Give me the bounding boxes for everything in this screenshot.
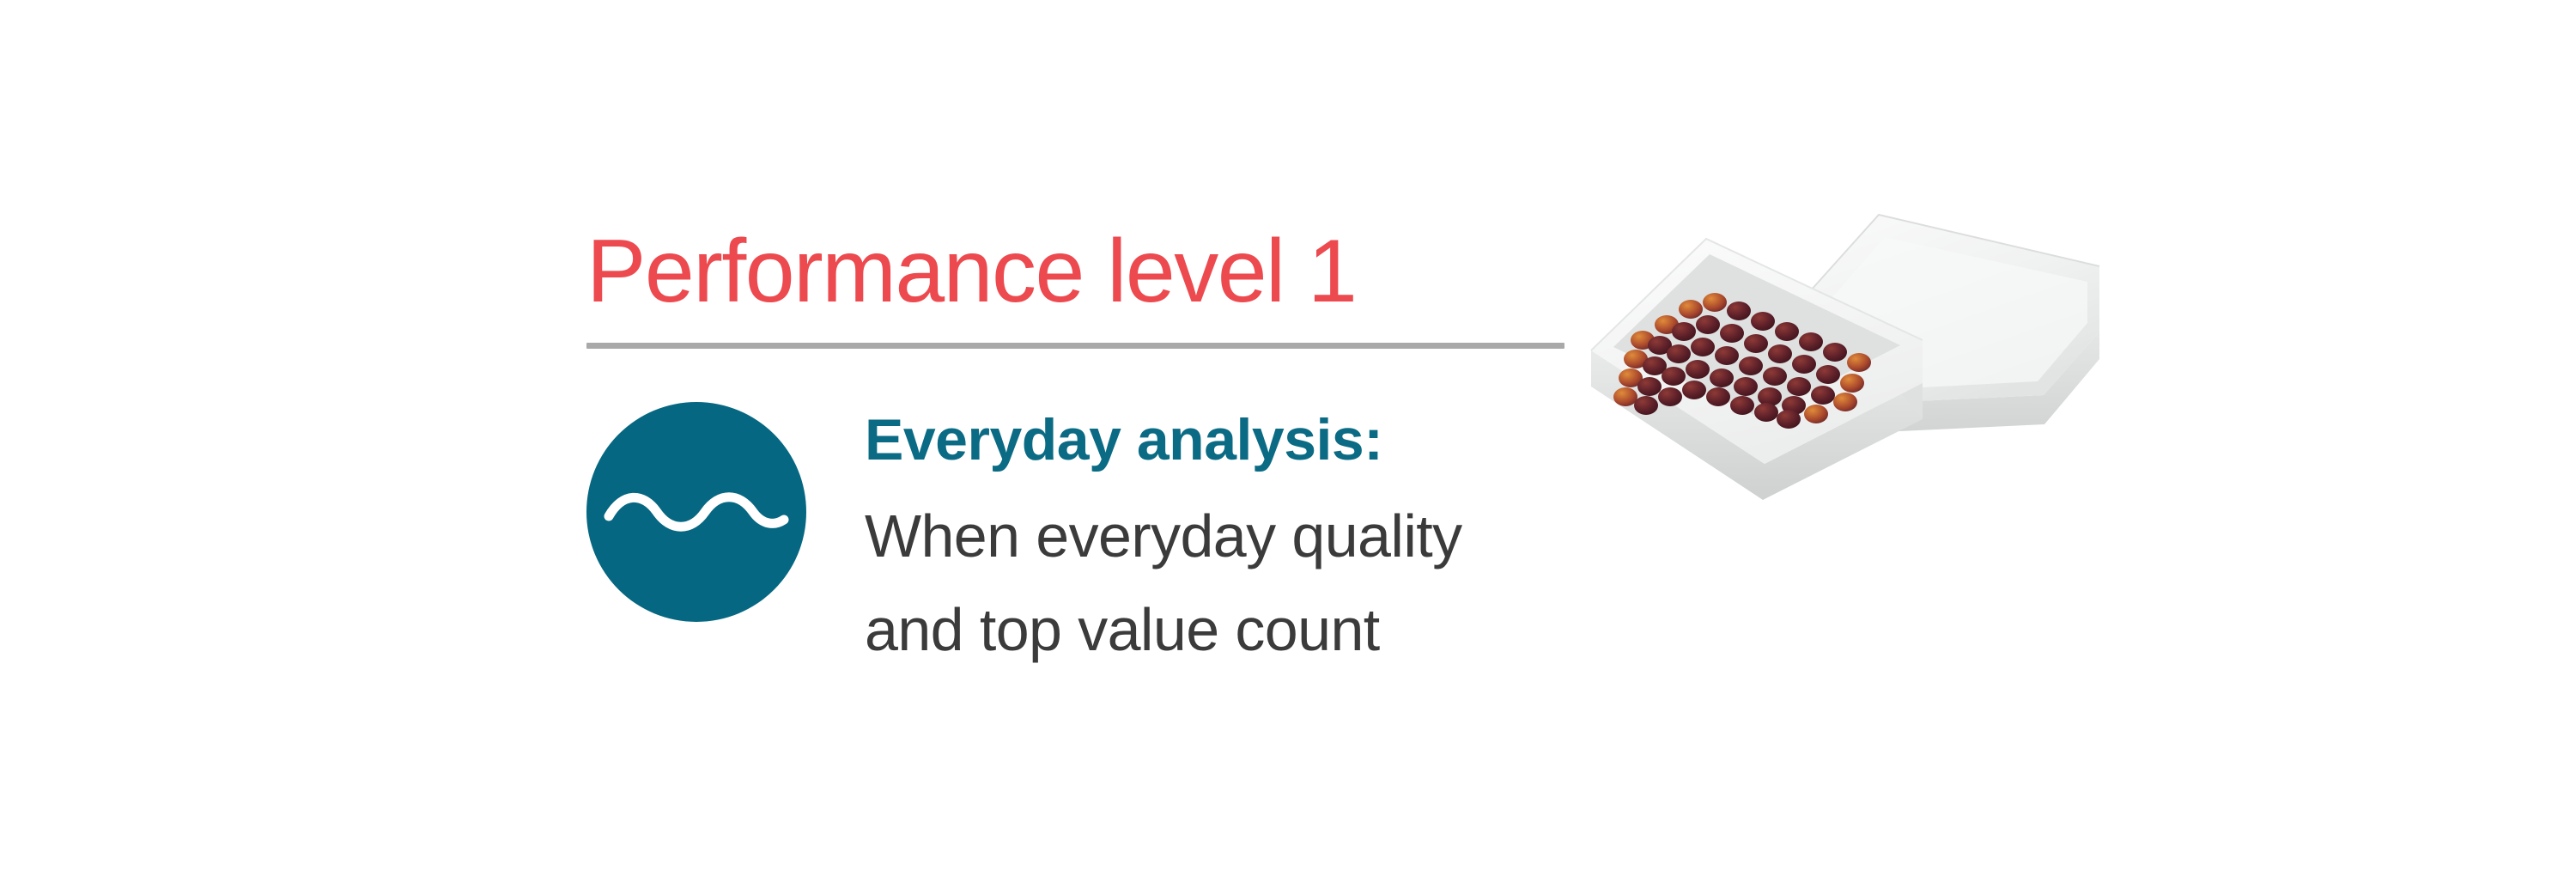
performance-level-card: Performance level 1 Everyday analysis: W… (0, 0, 2576, 883)
feature-body: When everyday quality and top value coun… (865, 490, 1462, 677)
wave-icon (586, 402, 806, 622)
microplate-with-lid-photo (1576, 129, 2108, 524)
feature-body-line: and top value count (865, 583, 1462, 677)
page-title: Performance level 1 (586, 225, 1570, 319)
feature-text: Everyday analysis: When everyday quality… (865, 402, 1462, 677)
feature-body-line: When everyday quality (865, 490, 1462, 583)
feature-title: Everyday analysis: (865, 411, 1462, 469)
content-block: Performance level 1 Everyday analysis: W… (586, 225, 1570, 678)
divider (586, 343, 1564, 349)
feature-row: Everyday analysis: When everyday quality… (586, 402, 1570, 677)
